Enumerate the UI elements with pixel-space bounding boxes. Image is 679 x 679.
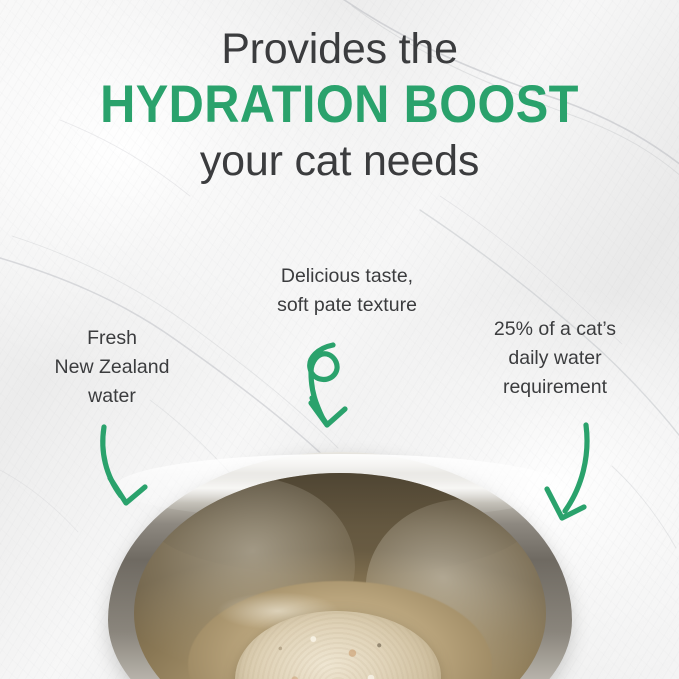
callout-label-fresh-water: Fresh New Zealand water bbox=[22, 324, 202, 411]
headline-block: Provides the HYDRATION BOOST your cat ne… bbox=[0, 22, 679, 188]
headline-line-3: your cat needs bbox=[0, 134, 679, 188]
pet-food-bowl bbox=[108, 452, 572, 679]
bowl-interior bbox=[134, 473, 546, 679]
headline-line-2-accent: HYDRATION BOOST bbox=[27, 76, 652, 134]
headline-line-1: Provides the bbox=[0, 22, 679, 76]
callout-label-daily-water: 25% of a cat’s daily water requirement bbox=[465, 315, 645, 402]
callout-label-taste-texture: Delicious taste, soft pate texture bbox=[243, 262, 451, 320]
marketing-image: Provides the HYDRATION BOOST your cat ne… bbox=[0, 0, 679, 679]
